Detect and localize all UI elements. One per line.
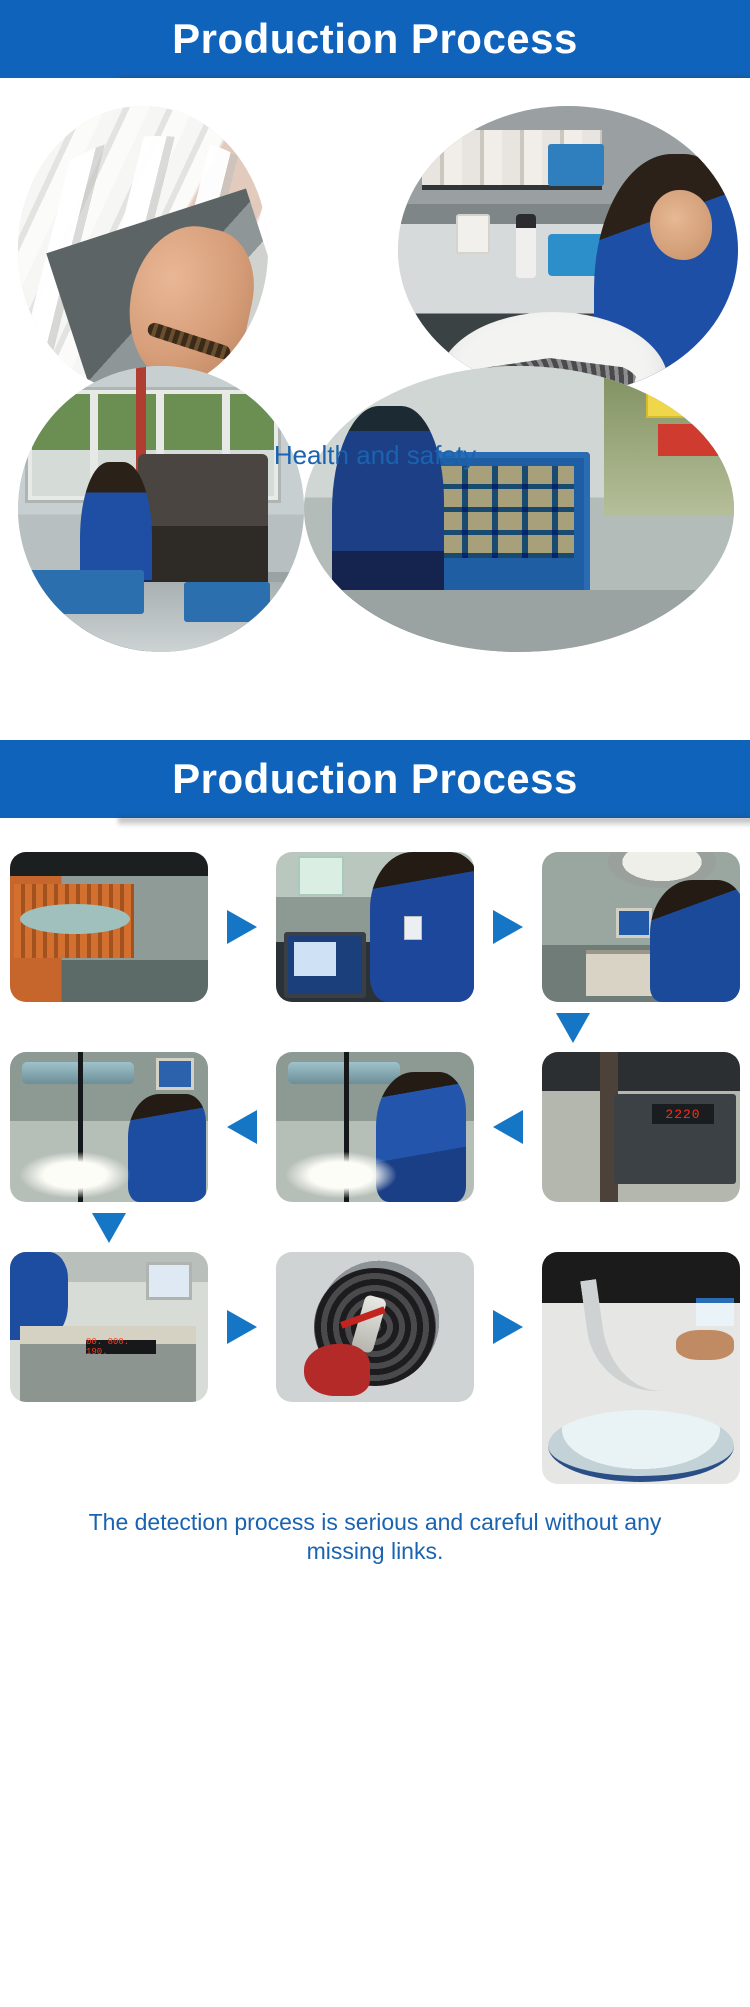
photo-white-tubing-assembly — [18, 106, 268, 394]
light-pool — [20, 1152, 130, 1198]
photo-operator-at-cnc-control-panel — [304, 366, 734, 652]
voltage-value: 2220 — [665, 1107, 700, 1122]
flow-connector-row2-row3 — [10, 1208, 740, 1248]
bench-blue-bin — [548, 144, 604, 186]
flow-connector-row1-row2 — [10, 1008, 740, 1048]
step-3-technician-loading-test-rig — [542, 852, 740, 1002]
arrow-right-step2-step3 — [491, 910, 525, 944]
red-glove — [304, 1344, 370, 1396]
photo-operator-inspecting-lamp-head-image — [398, 106, 738, 394]
measurement-monitor — [284, 932, 366, 998]
wall-poster — [298, 856, 344, 896]
inspection-process-flow: 2220 00. 800. 190. — [0, 818, 750, 1567]
arrow-right-step8-step9 — [491, 1310, 525, 1344]
arrow-left-step6-step5 — [491, 1110, 525, 1144]
operating-table — [548, 1410, 734, 1482]
assembly-photo-collage: Health and safety — [0, 78, 750, 678]
step-3-technician — [650, 880, 740, 1002]
row2-screen — [156, 1058, 194, 1090]
step-6-voltage-meter-readout: 2220 — [542, 1052, 740, 1202]
section-divider — [0, 678, 750, 740]
warning-sign-yellow — [646, 378, 694, 418]
assembly-caption: Health and safety — [0, 440, 750, 471]
cnc-floor — [304, 590, 734, 652]
id-badge — [404, 916, 422, 940]
arrow-right-step7-step8 — [225, 1310, 259, 1344]
banner-production-process-top: Production Process — [0, 0, 750, 78]
cnc-keypad — [438, 466, 574, 558]
flow-row-1 — [10, 852, 740, 1002]
rig-screen — [616, 908, 652, 938]
arrow-down-row1-row2 — [474, 1013, 672, 1043]
step-5-illuminance-probe-adjustment — [276, 1052, 474, 1202]
arrow-right-step1-step2 — [225, 910, 259, 944]
arrow-down-row2-row3 — [10, 1213, 208, 1243]
bench-bottle — [516, 214, 536, 278]
photo-operator-inspecting-lamp-head — [398, 106, 738, 394]
step-4-illuminance-reading-recorded — [10, 1052, 208, 1202]
banner-title-bottom: Production Process — [172, 758, 578, 800]
flow-row-3: 00. 800. 190. — [10, 1252, 740, 1484]
arrow-left-step5-step4 — [225, 1110, 259, 1144]
inspection-caption: The detection process is serious and car… — [10, 1490, 740, 1567]
inspector-hand — [676, 1330, 734, 1360]
wall-notice-board — [696, 1298, 734, 1326]
bench-screen — [146, 1262, 192, 1300]
photo-machinist-at-milling-machine-image — [18, 366, 304, 652]
bench-operator-face — [650, 190, 712, 260]
flow-row-2: 2220 — [10, 1052, 740, 1202]
banner-production-process-bottom: Production Process — [0, 740, 750, 818]
step-8-led-module-probe-check — [276, 1252, 474, 1402]
parts-crate-left — [24, 570, 144, 614]
step-9-final-lamp-arm-inspection — [542, 1252, 740, 1484]
step-1-operating-room-lamp-setup — [10, 852, 208, 1002]
step-7-electrical-safety-bench-test: 00. 800. 190. — [10, 1252, 208, 1402]
photo-operator-at-cnc-control-panel-image — [304, 366, 734, 652]
parts-crate-right — [184, 582, 270, 622]
wall-outlet — [456, 214, 490, 254]
bench-led-display: 00. 800. 190. — [86, 1340, 156, 1354]
step-4-technician — [128, 1094, 206, 1202]
lamp-support-arm — [580, 1268, 692, 1400]
voltage-led-display: 2220 — [652, 1104, 714, 1124]
step-2-engineer-at-measurement-pc — [276, 852, 474, 1002]
light-pool-2 — [286, 1152, 396, 1198]
photo-machinist-at-milling-machine — [18, 366, 304, 652]
banner-title-top: Production Process — [172, 18, 578, 60]
step-2-engineer — [370, 852, 474, 1002]
